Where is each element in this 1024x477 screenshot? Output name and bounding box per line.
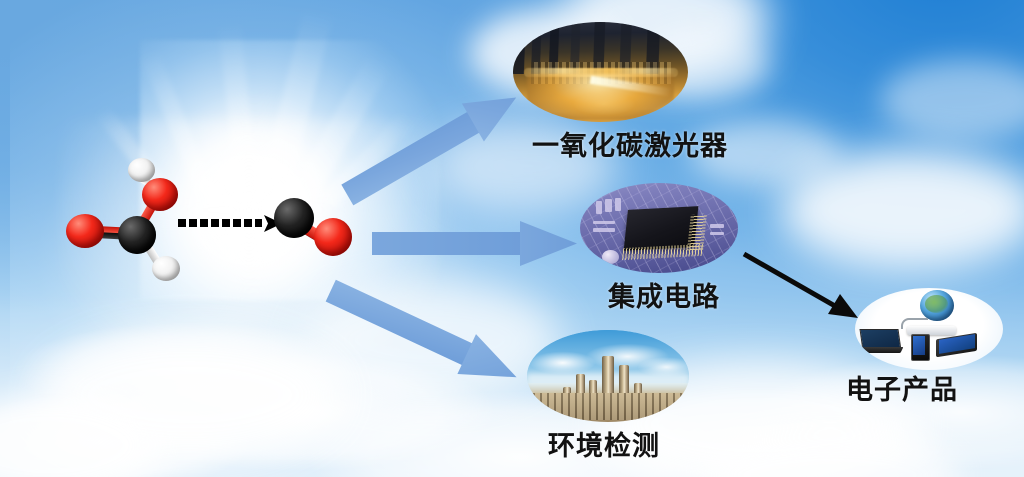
smartphone-screen bbox=[913, 336, 925, 355]
arrow-to-environmental-monitoring bbox=[330, 272, 542, 392]
atom-hydrogen bbox=[152, 256, 180, 281]
image-environmental-monitoring bbox=[527, 330, 689, 422]
label-environmental-monitoring: 环境检测 bbox=[548, 424, 660, 463]
globe-landmass bbox=[925, 295, 949, 313]
figure-canvas: 一氧化碳激光器 集成电路 环境检测 bbox=[0, 0, 1024, 477]
label-co-laser: 一氧化碳激光器 bbox=[532, 124, 728, 163]
reaction-arrow-dashed bbox=[178, 212, 282, 236]
image-co-laser bbox=[513, 22, 688, 122]
pcb-component bbox=[596, 201, 602, 214]
atom-oxygen bbox=[66, 214, 104, 248]
image-integrated-circuit bbox=[580, 183, 738, 273]
label-electronic-products: 电子产品 bbox=[846, 368, 958, 407]
arrow-to-electronic-products bbox=[742, 252, 864, 328]
pcb-component bbox=[593, 221, 615, 225]
atom-oxygen bbox=[314, 218, 352, 256]
pcb-component bbox=[710, 224, 724, 228]
arrow-to-laser bbox=[336, 78, 546, 210]
atom-carbon bbox=[118, 216, 156, 254]
atom-oxygen bbox=[142, 178, 178, 211]
arrow-to-integrated-circuit bbox=[372, 218, 580, 272]
pcb-component bbox=[615, 198, 621, 211]
label-integrated-circuit: 集成电路 bbox=[608, 275, 720, 314]
laptop-base bbox=[857, 347, 904, 353]
pcb-component bbox=[593, 228, 615, 232]
pcb-component bbox=[605, 199, 611, 212]
atom-carbon bbox=[274, 198, 314, 238]
pcb-component bbox=[710, 232, 724, 236]
router-antenna bbox=[901, 318, 928, 330]
image-electronic-products bbox=[855, 288, 1003, 370]
plant-deck bbox=[533, 393, 682, 421]
atom-hydrogen bbox=[128, 158, 155, 182]
